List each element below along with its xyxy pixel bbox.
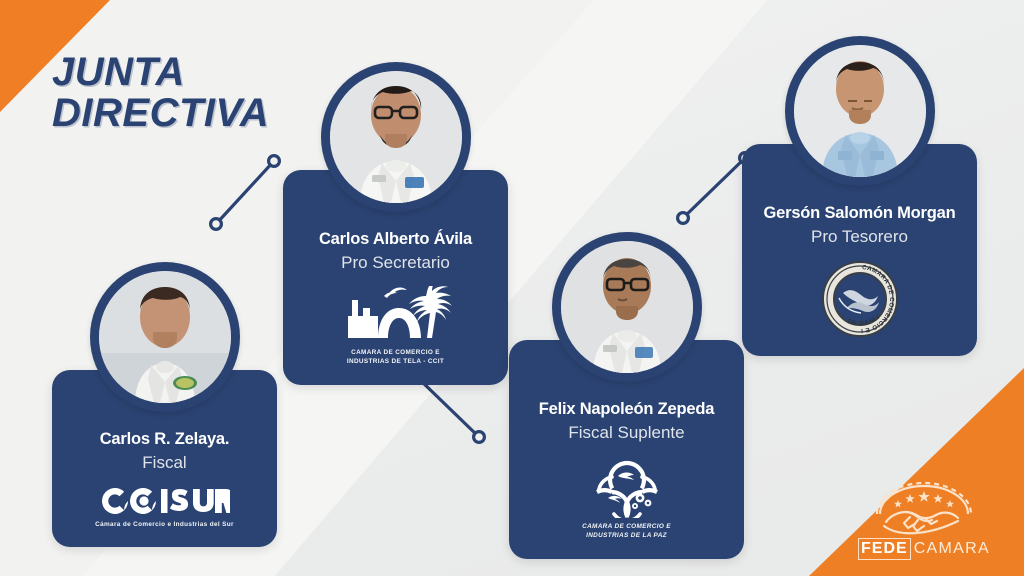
member-name: Felix Napoleón Zepeda bbox=[521, 400, 732, 419]
member-avatar-frame-3 bbox=[552, 232, 702, 382]
ccilapaz-logo: CAMARA DE COMERCIO E INDUSTRIAS DE LA PA… bbox=[521, 456, 732, 541]
member-avatar-frame-2 bbox=[321, 62, 471, 212]
fedecamara-logo: FEDE CAMARA bbox=[848, 474, 1000, 560]
page-title-line-2: DIRECTIVA bbox=[52, 93, 269, 134]
member-name: Gersón Salomón Morgan bbox=[754, 204, 965, 223]
fedecamara-wordmark: FEDE CAMARA bbox=[848, 538, 1000, 560]
page-title-line-1: JUNTA bbox=[52, 50, 185, 94]
member-avatar-frame-4 bbox=[785, 36, 935, 186]
ccilapaz-logo-caption-line-1: CAMARA DE COMERCIO E bbox=[582, 522, 671, 531]
fede-word-part-b: CAMARA bbox=[911, 539, 990, 559]
ccisur-logo-caption: Cámara de Comercio e Industrias del Sur bbox=[95, 520, 234, 529]
member-avatar-frame-1 bbox=[90, 262, 240, 412]
ccilapaz-logo-caption-line-2: INDUSTRIAS DE LA PAZ bbox=[586, 531, 667, 540]
page-title: JUNTA DIRECTIVA bbox=[52, 52, 269, 134]
photo-felix-zepeda bbox=[561, 241, 693, 373]
connector-zelaya-avila bbox=[205, 150, 285, 235]
slide-canvas: JUNTA DIRECTIVA Carlos R. Zelaya. Fiscal bbox=[0, 0, 1024, 576]
member-role: Fiscal Suplente bbox=[521, 422, 732, 444]
photo-gerson-morgan bbox=[794, 45, 926, 177]
ccisur-logo: Cámara de Comercio e Industrias del Sur bbox=[64, 486, 265, 529]
member-role: Pro Tesorero bbox=[754, 226, 965, 248]
member-name: Carlos Alberto Ávila bbox=[295, 230, 496, 249]
photo-carlos-avila bbox=[330, 71, 462, 203]
member-role: Pro Secretario bbox=[295, 252, 496, 274]
ccit-logo-caption-line-2: INDUSTRIAS DE TELA - CCIT bbox=[347, 357, 444, 366]
photo-carlos-zelaya bbox=[99, 271, 231, 403]
ccit-tela-logo: CAMARA DE COMERCIO E INDUSTRIAS DE TELA … bbox=[295, 286, 496, 367]
member-name: Carlos R. Zelaya. bbox=[64, 430, 265, 449]
member-role: Fiscal bbox=[64, 452, 265, 474]
fede-word-part-a: FEDE bbox=[858, 538, 911, 560]
danli-seal-logo: CAMARA DE COMERCIO E INDUSTRIAS DE DANLI bbox=[754, 260, 965, 338]
ccit-logo-caption-line-1: CAMARA DE COMERCIO E bbox=[351, 348, 440, 357]
